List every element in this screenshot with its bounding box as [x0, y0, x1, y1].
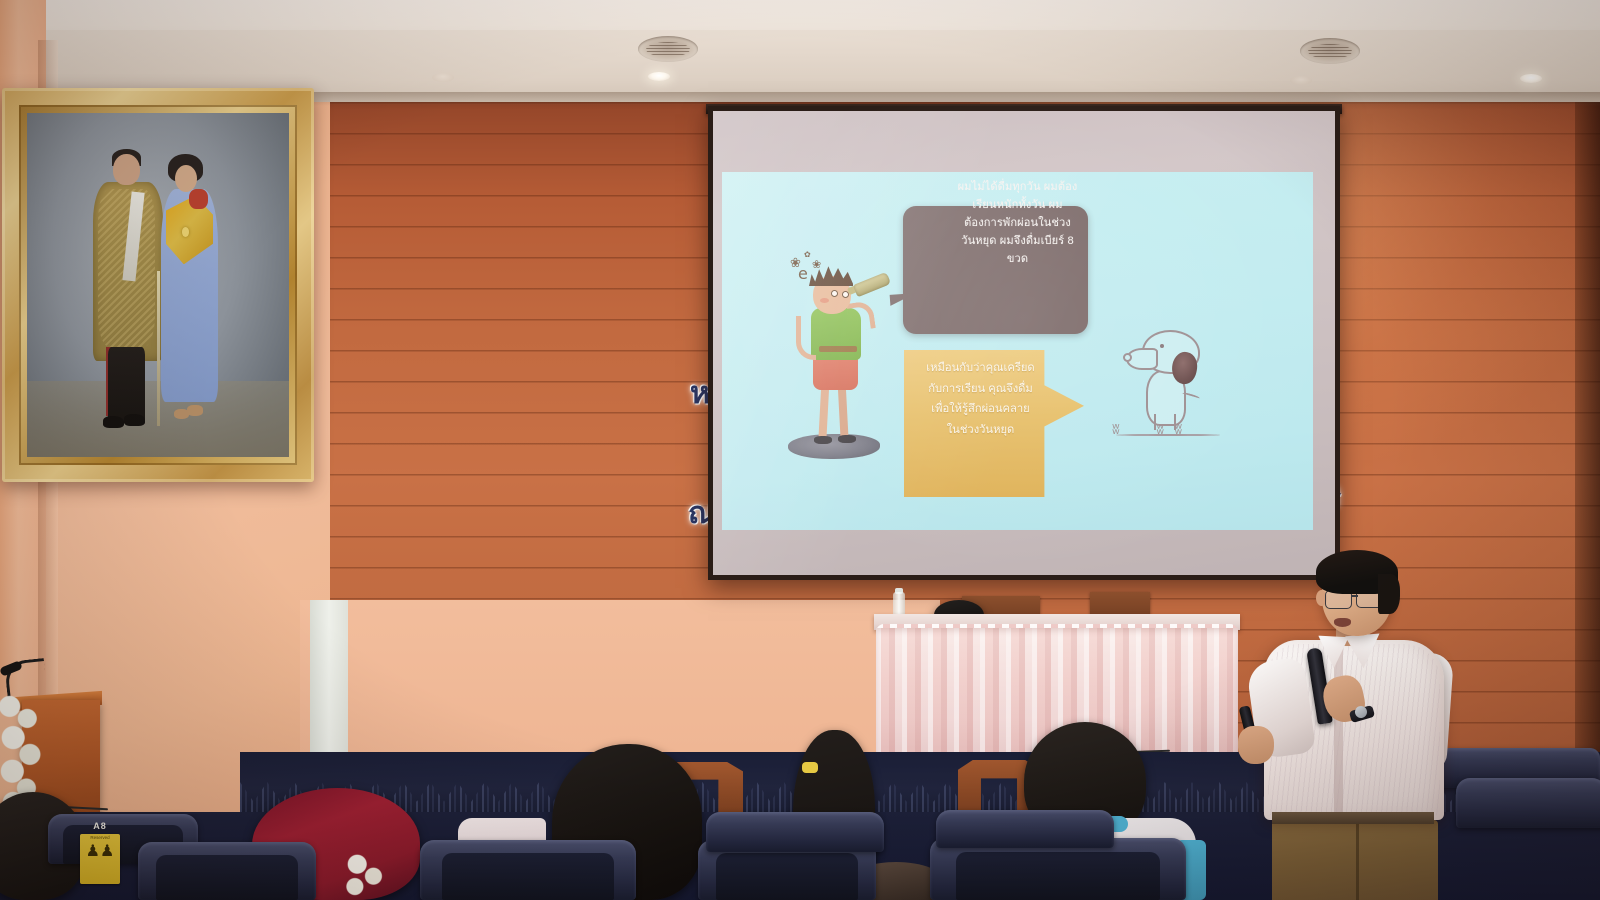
king-shoe — [124, 414, 145, 426]
seat-number-label: A8 — [80, 821, 120, 831]
callout-line: ในช่วงวันหยุด — [908, 420, 1053, 441]
hair-clip — [334, 846, 392, 898]
snoopy-ground-line — [1116, 434, 1220, 436]
ceiling-speaker-grille — [638, 36, 698, 62]
snoopy-nose — [1123, 353, 1132, 362]
king-shoe — [103, 416, 124, 428]
frame-inner-bevel — [19, 105, 297, 465]
presenter — [1228, 548, 1464, 900]
king-trousers — [108, 347, 145, 423]
seat-cushion — [442, 853, 615, 900]
auditorium-seat[interactable] — [420, 840, 636, 900]
snoopy-head — [1142, 330, 1200, 374]
recessed-downlight — [1520, 74, 1542, 83]
cartoon-cheek — [820, 298, 829, 303]
cartoon-rock — [788, 434, 880, 459]
seat-number-plate: A8 Reserved ♟♟ — [80, 834, 120, 884]
photo-scene: ห ณ ริ — [0, 0, 1600, 900]
king-head — [113, 154, 139, 185]
snoopy-snout — [1126, 348, 1158, 370]
snoopy-leg — [1174, 414, 1178, 430]
eyeglasses-bridge — [1351, 595, 1358, 597]
auditorium-seat[interactable] — [138, 842, 316, 900]
presentation-slide: ❀ ✿ ❀ e ผมไม่ได้ดื่มทุกวัน ผมต้อง เรียนห… — [722, 172, 1313, 530]
beer-bottle — [853, 272, 891, 298]
callout-line: เพื่อให้รู้สึกผ่อนคลาย — [908, 399, 1053, 420]
seat-plate-sub-label: Reserved — [80, 835, 120, 840]
auditorium-seat[interactable] — [936, 810, 1114, 848]
presenter-trousers — [1272, 820, 1438, 900]
cartoon-belt — [819, 346, 857, 352]
speech-line: วันหยุด ผมจึงดื่มเบียร์ 8 — [733, 233, 1302, 251]
speech-line: ผมไม่ได้ดื่มทุกวัน ผมต้อง — [733, 179, 1302, 197]
recessed-downlight — [648, 72, 670, 81]
seat-cushion — [156, 855, 298, 900]
cartoon-leg — [837, 378, 848, 440]
cartoon-arm — [796, 316, 816, 360]
cartoon-arm — [846, 300, 876, 331]
person-icons: ♟♟ — [80, 844, 120, 860]
speech-bubble — [903, 206, 1088, 334]
white-pillar — [310, 600, 348, 770]
cartoon-hair — [809, 264, 853, 286]
speech-line: ต้องการพักผ่อนในช่วง — [733, 215, 1302, 233]
callout-line: กับการเรียน คุณจึงดื่ม — [908, 379, 1053, 400]
snoopy-line-drawing: ʬ ʬ ʬ — [1112, 320, 1224, 445]
trouser-seam — [1356, 824, 1359, 900]
presenter-gesturing-hand — [1238, 726, 1274, 764]
presenter-belt — [1272, 812, 1434, 824]
cartoon-shoe — [838, 435, 856, 443]
cartoon-eye — [831, 290, 838, 297]
cartoon-shoe — [814, 436, 832, 444]
bottle-neck — [847, 284, 861, 295]
arrow-callout-text: เหมือนกับว่าคุณเครียด กับการเรียน คุณจึง… — [908, 358, 1053, 490]
speech-line: ขวด — [733, 251, 1302, 269]
queen-shoe — [187, 405, 203, 415]
cartoon-shorts — [813, 354, 858, 390]
ceiling-speaker-grille — [1300, 38, 1360, 64]
callout-line: เหมือนกับว่าคุณเครียด — [908, 358, 1053, 379]
auditorium-seat[interactable] — [706, 812, 884, 852]
king-cane — [157, 271, 160, 426]
portrait-canvas — [27, 113, 289, 457]
speech-bubble-text: ผมไม่ได้ดื่มทุกวัน ผมต้อง เรียนหนักทั้งว… — [733, 179, 1302, 523]
snoopy-body — [1146, 370, 1186, 426]
hair-tie — [802, 762, 818, 773]
snoopy-leg — [1154, 414, 1158, 430]
speech-bubble-tail — [890, 293, 917, 306]
snoopy-eye — [1160, 344, 1164, 348]
grass-icon: ʬ ʬ ʬ — [1112, 420, 1224, 442]
seat-cushion — [956, 852, 1161, 900]
snoopy-ear — [1169, 350, 1200, 386]
presenter-mouth — [1334, 618, 1351, 627]
projection-screen: ❀ ✿ ❀ e ผมไม่ได้ดื่มทุกวัน ผมต้อง เรียนห… — [713, 111, 1335, 575]
recessed-downlight — [1290, 76, 1312, 85]
cartoon-leg — [818, 378, 829, 440]
queen-sash-accent — [189, 189, 207, 210]
cartoon-person-drinking: ❀ ✿ ❀ e — [784, 250, 884, 465]
royal-portrait-frame — [2, 88, 314, 482]
wall-thai-letter: ห — [690, 370, 710, 417]
dizzy-bubbles-icon: ❀ ✿ ❀ e — [788, 250, 834, 282]
cartoon-eye — [842, 291, 849, 298]
auditorium-seat[interactable] — [1456, 778, 1600, 828]
speech-line: เรียนหนักทั้งวัน ผม — [733, 197, 1302, 215]
presenter-hair-side — [1378, 574, 1400, 614]
arrow-callout — [904, 350, 1084, 497]
wall-right-shadow — [1575, 40, 1600, 770]
cartoon-head — [813, 276, 851, 314]
shirt-placket — [1334, 648, 1343, 816]
cartoon-shirt — [811, 308, 861, 360]
snoopy-tail — [1182, 392, 1200, 401]
seat-cushion — [716, 853, 858, 900]
recessed-downlight — [432, 73, 454, 82]
